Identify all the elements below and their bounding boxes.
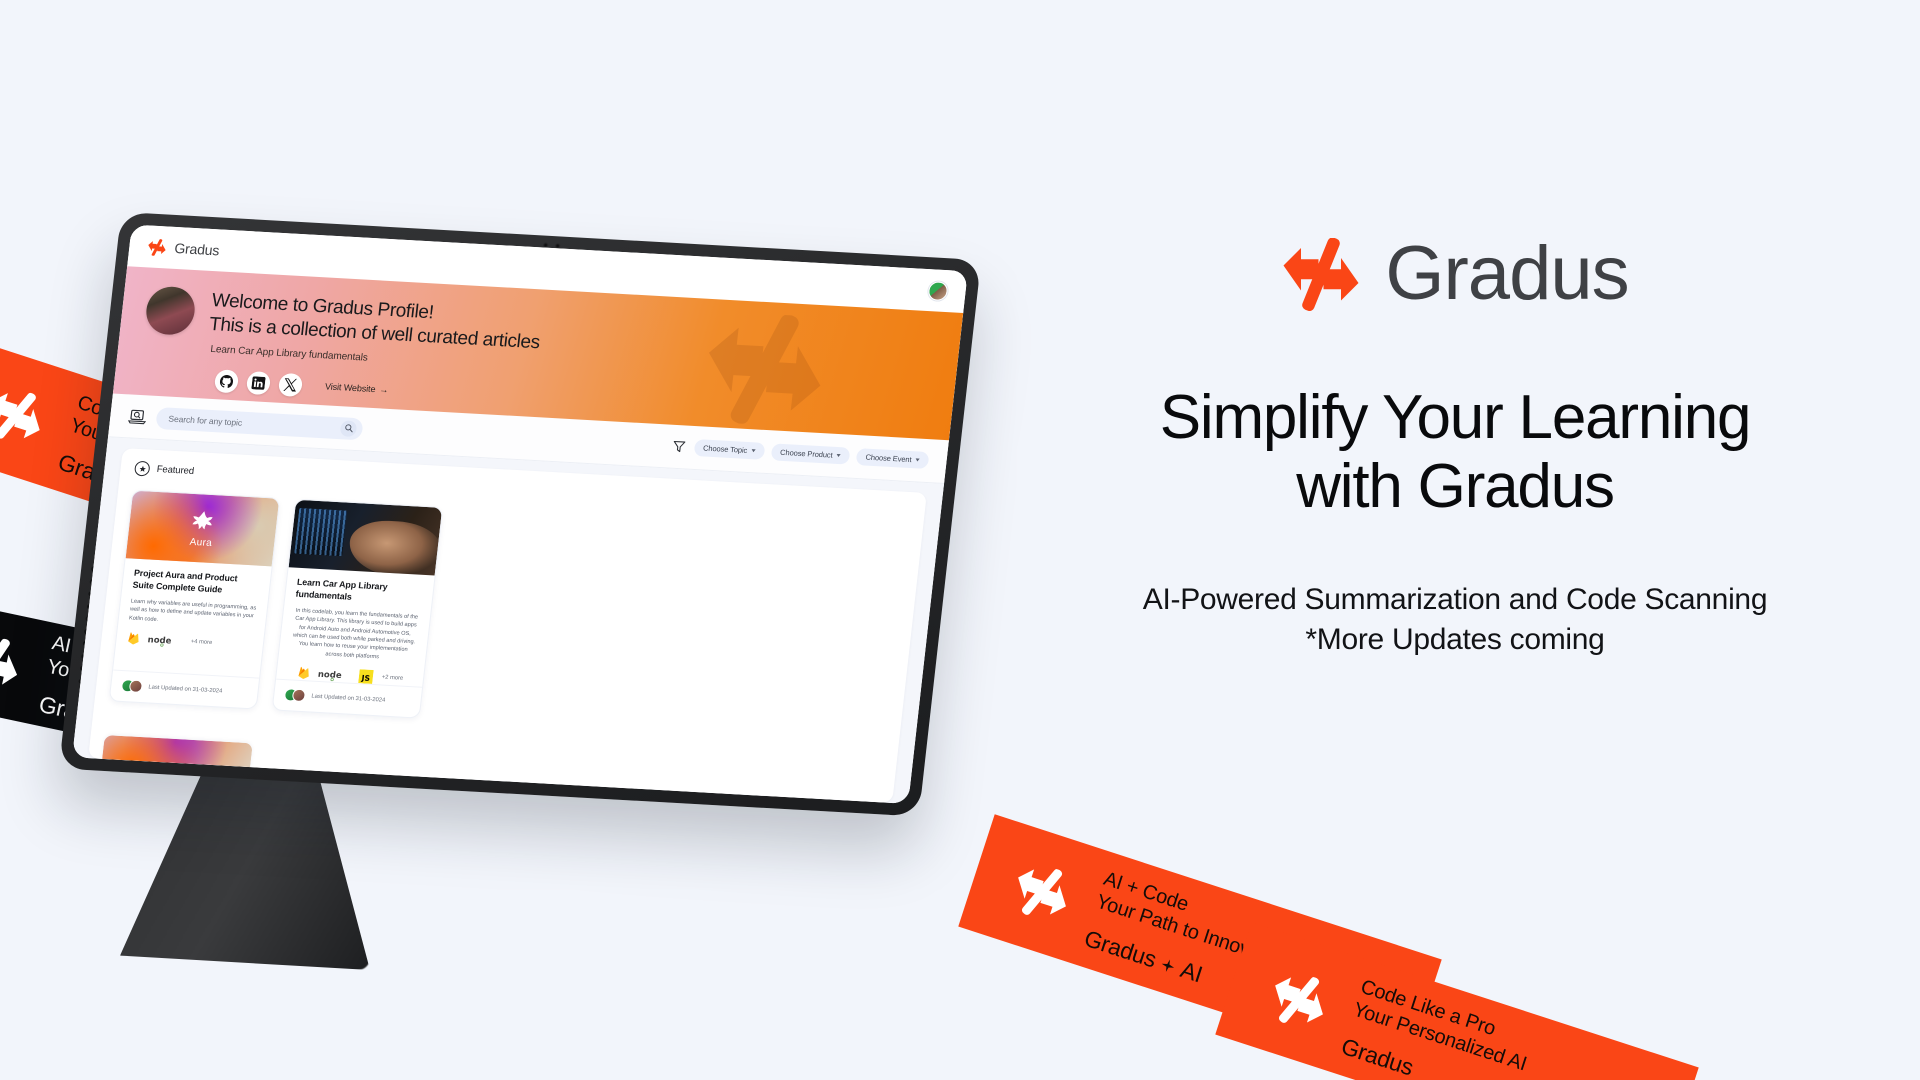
ribbon-text-block: Code Like a Pro Your Personalized AI Gra…: [1338, 975, 1537, 1080]
ribbon-brand-label: Gradus: [1081, 925, 1160, 974]
chevron-down-icon: [915, 458, 919, 461]
gradus-logo-icon: [147, 238, 168, 256]
firebase-icon: [126, 631, 142, 646]
ribbon-brand-suffix: AI: [1177, 956, 1206, 988]
card-title: Project Aura and Product Suite Complete …: [132, 568, 261, 599]
filter-label: Choose Product: [780, 448, 833, 460]
card-tech-more: +4 more: [190, 639, 212, 646]
profile-photo: [144, 286, 197, 336]
node-icon: node: [147, 632, 183, 648]
tablet-device: Gradus: [60, 215, 980, 975]
github-icon[interactable]: [214, 369, 240, 393]
page-subtitle: AI-Powered Summarization and Code Scanni…: [1143, 580, 1767, 660]
author-avatars: [121, 679, 143, 693]
article-card[interactable]: Aura Project Aura and Product Suite Comp…: [109, 490, 281, 710]
section-label: Featured: [156, 464, 194, 477]
card-body: Learn Car App Library fundamentals In th…: [276, 567, 434, 687]
svg-text:node: node: [317, 670, 342, 681]
card-tech-row: node +4 more: [126, 631, 254, 652]
filter-label: Choose Topic: [703, 443, 748, 454]
filter-choose-event[interactable]: Choose Event: [856, 448, 930, 469]
aura-leaf-icon: [189, 508, 218, 535]
page-title: Simplify Your Learning with Gradus: [1160, 383, 1751, 522]
svg-text:JS: JS: [360, 674, 370, 683]
article-card[interactable]: Learn Car App Library fundamentals In th…: [272, 499, 444, 719]
arrow-right-icon: →: [379, 385, 389, 395]
card-body: Project Aura and Product Suite Complete …: [113, 558, 271, 678]
card-updated-label: Last Updated on 31-03-2024: [148, 684, 222, 694]
app-brand[interactable]: Gradus: [147, 238, 221, 259]
author-avatars: [284, 688, 306, 702]
search-icon[interactable]: [340, 420, 358, 437]
js-icon: JS: [358, 669, 374, 684]
card-updated-label: Last Updated on 31-03-2024: [311, 693, 385, 703]
card-thumbnail-label: Aura: [189, 536, 213, 548]
visit-website-link[interactable]: Visit Website →: [324, 382, 388, 395]
sparkle-icon: [1158, 950, 1179, 980]
gradus-logo-icon: [1007, 858, 1078, 925]
card-title: Learn Car App Library fundamentals: [295, 577, 424, 608]
card-thumbnail: Aura: [126, 491, 280, 567]
content-area: Featured: [72, 437, 944, 804]
gradus-logo-icon: [0, 382, 52, 449]
gradus-web-app: Gradus: [72, 225, 968, 804]
gradus-logo-watermark-icon: [698, 311, 832, 425]
brand-lockup: Gradus: [1281, 230, 1628, 318]
ribbon-brand-label: Gradus: [1338, 1033, 1417, 1080]
featured-panel: Featured: [88, 448, 927, 803]
filter-choose-product[interactable]: Choose Product: [770, 443, 850, 464]
filter-choose-topic[interactable]: Choose Topic: [693, 439, 765, 460]
brand-wordmark: Gradus: [1385, 236, 1628, 312]
x-icon[interactable]: [278, 373, 304, 397]
linkedin-icon[interactable]: [246, 371, 272, 395]
laptop-search-icon: [128, 407, 148, 426]
search-placeholder: Search for any topic: [168, 413, 335, 432]
promo-column: Gradus Simplify Your Learning with Gradu…: [1055, 230, 1855, 660]
tablet-screen: Gradus: [72, 225, 968, 804]
filter-icon[interactable]: [671, 440, 685, 454]
hero-title: Welcome to Gradus Profile! This is a col…: [208, 289, 544, 355]
gradus-logo-icon: [1264, 966, 1335, 1033]
gradus-logo-icon: [0, 631, 26, 694]
search-input[interactable]: Search for any topic: [155, 406, 363, 439]
tablet-frame: Gradus: [59, 212, 981, 817]
hero-text-block: Welcome to Gradus Profile! This is a col…: [202, 289, 544, 410]
star-badge-icon: [134, 461, 151, 477]
firebase-icon: [296, 666, 312, 681]
chevron-down-icon: [751, 449, 755, 452]
chevron-down-icon: [836, 454, 840, 457]
svg-text:node: node: [147, 635, 172, 646]
card-tech-more: +2 more: [381, 675, 403, 682]
filter-label: Choose Event: [865, 453, 912, 465]
card-description: Learn why variables are useful in progra…: [129, 597, 258, 629]
app-brand-label: Gradus: [174, 240, 221, 258]
avatar[interactable]: [927, 281, 948, 301]
filter-group: Choose Topic Choose Product Choose Event: [671, 438, 929, 469]
gradus-logo-icon: [1281, 238, 1361, 310]
visit-website-label: Visit Website: [324, 382, 376, 395]
ribbon-code-like-a-pro-bottom: Code Like a Pro Your Personalized AI Gra…: [1215, 922, 1698, 1080]
card-thumbnail: [289, 500, 443, 576]
card-description: In this codelab, you learn the fundament…: [289, 606, 421, 663]
poster-canvas: Code Like a Pro Your Personalized AI Gra…: [0, 0, 1920, 1080]
featured-card-row: Aura Project Aura and Product Suite Comp…: [109, 490, 909, 745]
